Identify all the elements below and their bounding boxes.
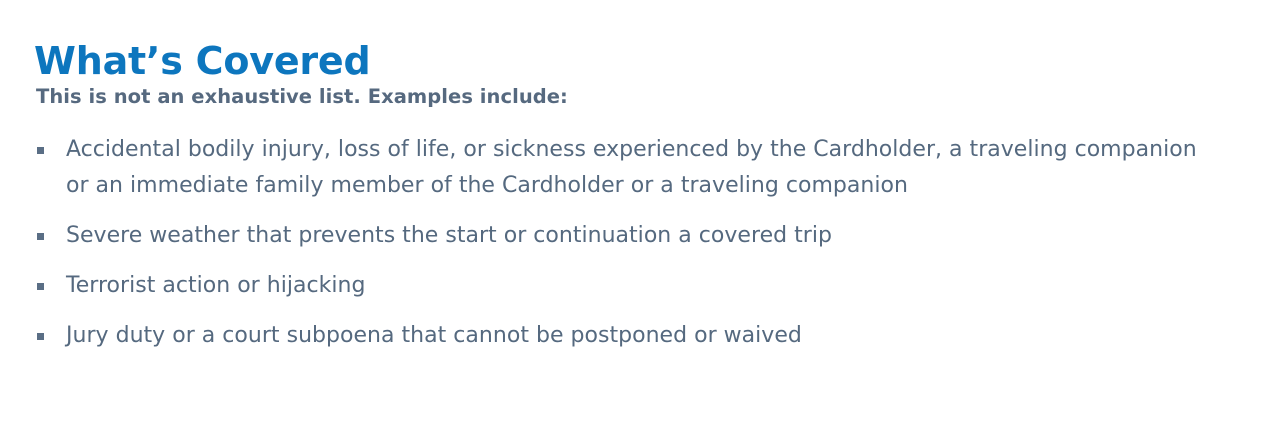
covered-items-list: Accidental bodily injury, loss of life, …: [36, 132, 1226, 354]
list-item: Terrorist action or hijacking: [36, 268, 1226, 304]
list-item-label: Jury duty or a court subpoena that canno…: [66, 318, 1226, 354]
square-bullet-icon: [37, 147, 44, 154]
list-item: Jury duty or a court subpoena that canno…: [36, 318, 1226, 354]
subtitle-text: This is not an exhaustive list. Examples…: [36, 84, 568, 110]
list-item-label: Accidental bodily injury, loss of life, …: [66, 132, 1226, 204]
list-item: Accidental bodily injury, loss of life, …: [36, 132, 1226, 204]
list-item-label: Terrorist action or hijacking: [66, 268, 1226, 304]
list-item: Severe weather that prevents the start o…: [36, 218, 1226, 254]
square-bullet-icon: [37, 233, 44, 240]
square-bullet-icon: [37, 333, 44, 340]
page-title: What’s Covered: [34, 39, 371, 83]
list-item-label: Severe weather that prevents the start o…: [66, 218, 1226, 254]
square-bullet-icon: [37, 283, 44, 290]
slide-content-panel: What’s Covered This is not an exhaustive…: [0, 0, 1284, 424]
